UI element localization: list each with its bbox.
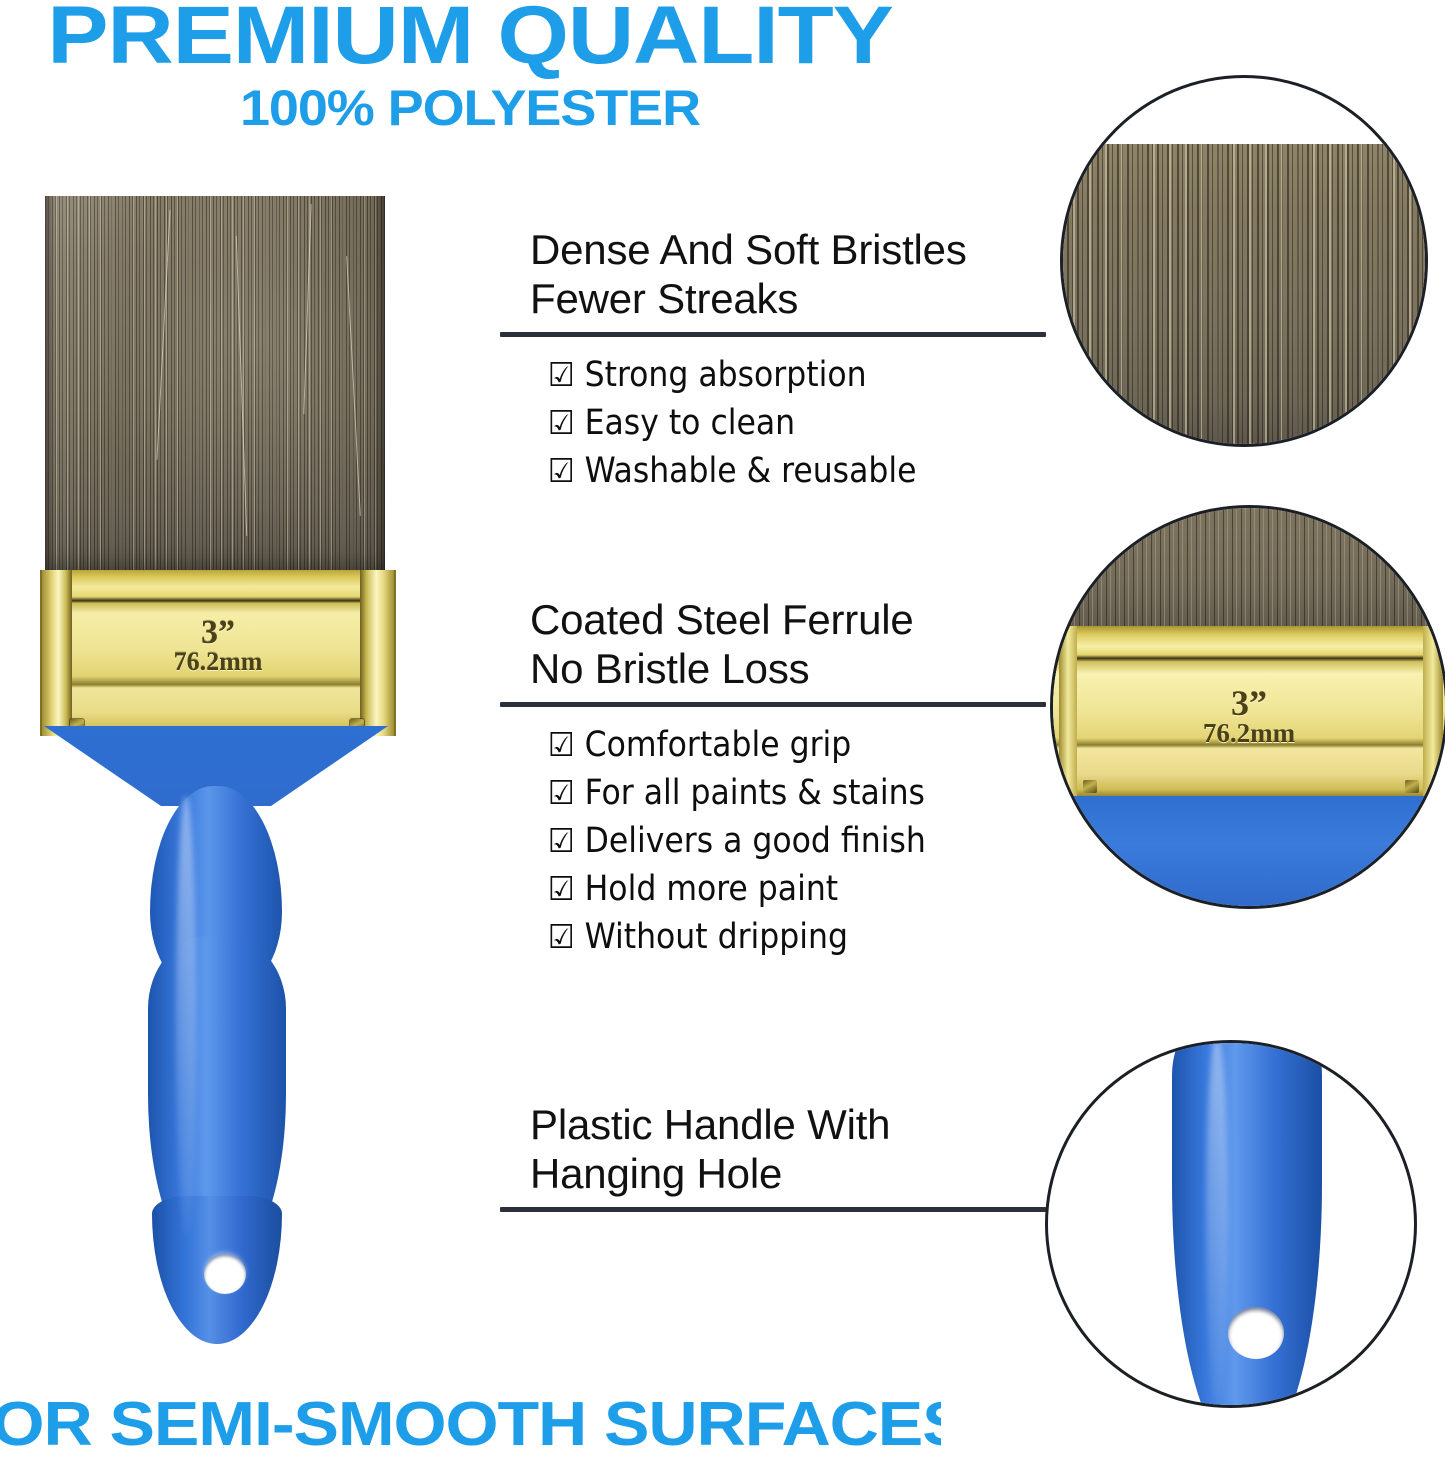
ferrule-size-mm: 76.2mm — [42, 648, 394, 676]
inset-handle-highlight — [1206, 1040, 1228, 1403]
feature-divider — [500, 1207, 1046, 1212]
feature-bullet-list: ☑ Strong absorption ☑ Easy to clean ☑ Wa… — [500, 351, 1060, 495]
checkbox-icon: ☑ — [548, 399, 575, 447]
list-item-label: For all paints & stains — [585, 769, 925, 817]
list-item-label: Easy to clean — [585, 399, 796, 447]
feature-bullet-list: ☑ Comfortable grip ☑ For all paints & st… — [500, 721, 1060, 961]
inset-rivet-right — [1405, 780, 1419, 793]
list-item-label: Hold more paint — [585, 865, 839, 913]
list-item: ☑ Strong absorption — [500, 351, 1060, 399]
list-item: ☑ Without dripping — [500, 913, 1060, 961]
checkbox-icon: ☑ — [548, 913, 575, 961]
checkbox-icon: ☑ — [548, 769, 575, 817]
feature-heading-line2: Fewer Streaks — [500, 274, 1060, 323]
feature-heading-line2: No Bristle Loss — [500, 644, 1060, 693]
feature-heading-line1: Coated Steel Ferrule — [500, 595, 1060, 644]
checkbox-icon: ☑ — [548, 865, 575, 913]
feature-divider — [500, 332, 1046, 337]
ferrule-size-inches: 3” — [42, 618, 394, 648]
bottom-banner: FOR SEMI-SMOOTH SURFACES — [0, 1392, 941, 1458]
brush-bristles — [45, 196, 385, 574]
list-item: ☑ Delivers a good finish — [500, 817, 1060, 865]
inset-ferrule-size-stamp: 3” 76.2mm — [1050, 688, 1445, 748]
list-item-label: Washable & reusable — [585, 447, 917, 495]
inset-handle-hanging-hole-closeup — [1045, 1040, 1417, 1408]
bristle-left-shadow — [45, 196, 55, 574]
inset-hanging-hole — [1228, 1307, 1284, 1359]
bristle-right-shadow — [373, 196, 385, 574]
list-item-label: Comfortable grip — [585, 721, 852, 769]
list-item: ☑ Washable & reusable — [500, 447, 1060, 495]
checkbox-icon: ☑ — [548, 721, 575, 769]
list-item: ☑ Comfortable grip — [500, 721, 1060, 769]
list-item: ☑ Hold more paint — [500, 865, 1060, 913]
checkbox-icon: ☑ — [548, 447, 575, 495]
list-item: ☑ Easy to clean — [500, 399, 1060, 447]
feature-block-handle: Plastic Handle With Hanging Hole — [500, 1100, 1060, 1212]
inset-bristles — [1050, 508, 1445, 628]
list-item-label: Delivers a good finish — [585, 817, 926, 865]
feature-heading-line1: Plastic Handle With — [500, 1100, 1060, 1149]
list-item-label: Strong absorption — [585, 351, 867, 399]
feature-divider — [500, 702, 1046, 707]
checkbox-icon: ☑ — [548, 351, 575, 399]
inset-bristle-tips-closeup — [1060, 75, 1428, 447]
inset-size-mm: 76.2mm — [1050, 718, 1445, 748]
inset-ferrule-band: 3” 76.2mm — [1050, 626, 1445, 796]
brush-ferrule: 3” 76.2mm — [40, 570, 396, 736]
inset-size-inches: 3” — [1050, 688, 1445, 718]
inset-ferrule-closeup: 3” 76.2mm — [1050, 505, 1445, 909]
infographic-canvas: PREMIUM QUALITY 100% POLYESTER 3” 76.2mm — [0, 0, 1445, 1470]
handle-highlight — [176, 796, 196, 1236]
list-item-label: Without dripping — [585, 913, 848, 961]
checkbox-icon: ☑ — [548, 817, 575, 865]
list-item: ☑ For all paints & stains — [500, 769, 1060, 817]
bristle-sheen — [45, 196, 385, 574]
feature-block-bristles: Dense And Soft Bristles Fewer Streaks ☑ … — [500, 225, 1060, 495]
inset-handle-top — [1050, 796, 1445, 909]
feature-heading-line1: Dense And Soft Bristles — [500, 225, 1060, 274]
brush-handle — [0, 726, 470, 1336]
bristle-tips-macro — [1060, 144, 1428, 447]
handle-hanging-hole — [204, 1254, 246, 1294]
paint-brush-product-image: 3” 76.2mm — [0, 0, 470, 1400]
feature-block-ferrule: Coated Steel Ferrule No Bristle Loss ☑ C… — [500, 595, 1060, 961]
ferrule-size-stamp: 3” 76.2mm — [42, 618, 394, 676]
inset-rivet-left — [1083, 780, 1097, 793]
feature-heading-line2: Hanging Hole — [500, 1149, 1060, 1198]
